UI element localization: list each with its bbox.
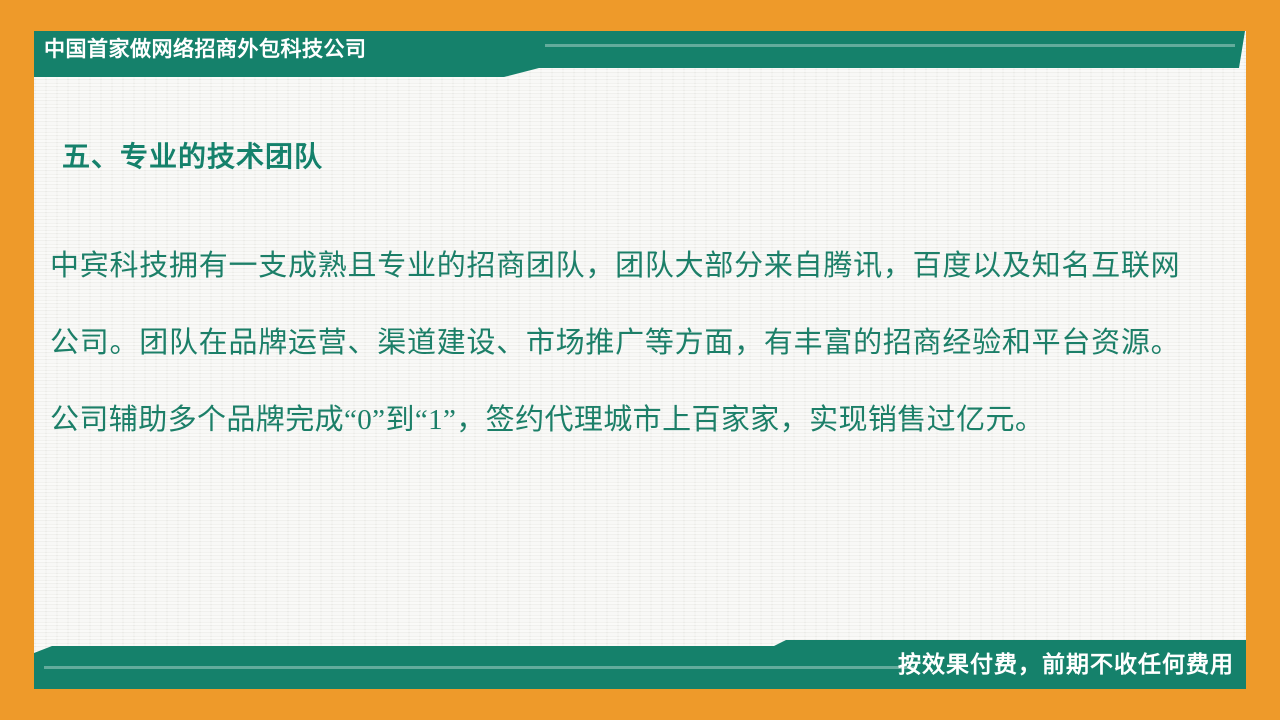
footer-accent-line — [44, 666, 914, 669]
header-title: 中国首家做网络招商外包科技公司 — [44, 33, 524, 66]
slide-canvas: 中国首家做网络招商外包科技公司 五、专业的技术团队 中宾科技拥有一支成熟且专业的… — [0, 0, 1280, 720]
footer-slogan: 按效果付费，前期不收任何费用 — [898, 645, 1234, 683]
section-title: 五、专业的技术团队 — [62, 135, 323, 175]
section-body-paragraph: 中宾科技拥有一支成熟且专业的招商团队，团队大部分来自腾讯，百度以及知名互联网公司… — [50, 228, 1180, 459]
header-accent-line — [545, 44, 1235, 47]
